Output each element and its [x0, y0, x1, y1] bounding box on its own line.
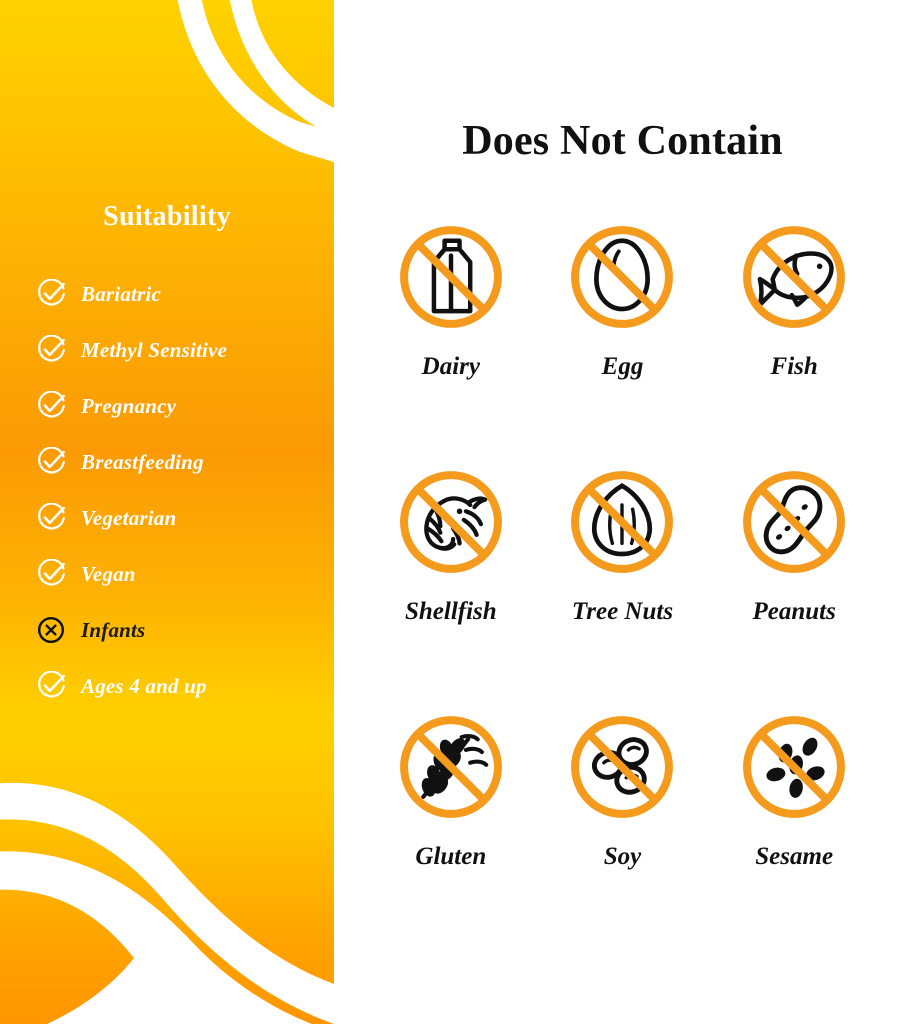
check-circle-icon [36, 447, 66, 477]
allergen-label: Fish [771, 353, 818, 381]
suitability-sidebar: Suitability Bariatric Methyl Sensitive [0, 0, 334, 1024]
allergen-item-peanuts[interactable]: Peanuts [708, 458, 880, 703]
suitability-list: Bariatric Methyl Sensitive Pregnancy [36, 266, 326, 714]
check-circle-icon [36, 335, 66, 365]
allergen-label: Gluten [415, 843, 486, 871]
milk-carton-icon [387, 213, 515, 341]
allergen-label: Soy [604, 843, 642, 871]
check-circle-icon [36, 279, 66, 309]
suitability-item-label: Bariatric [81, 282, 161, 307]
suitability-item-ages-4-and-up[interactable]: Ages 4 and up [36, 658, 326, 714]
allergen-label: Tree Nuts [572, 598, 673, 626]
fish-icon [730, 213, 858, 341]
sesame-seeds-icon [730, 703, 858, 831]
prohibition-ring [404, 720, 498, 814]
suitability-item-label: Ages 4 and up [81, 674, 207, 699]
prohibition-ring [404, 475, 498, 569]
allergen-label: Egg [602, 353, 644, 381]
suitability-heading: Suitability [0, 203, 334, 231]
egg-icon [558, 213, 686, 341]
check-circle-icon [36, 503, 66, 533]
allergen-grid: Dairy Egg [365, 213, 880, 948]
allergen-item-egg[interactable]: Egg [537, 213, 709, 458]
peanut-icon [730, 458, 858, 586]
suitability-item-label: Methyl Sensitive [81, 338, 227, 363]
suitability-item-label: Infants [81, 618, 145, 643]
suitability-item-vegetarian[interactable]: Vegetarian [36, 490, 326, 546]
suitability-item-vegan[interactable]: Vegan [36, 546, 326, 602]
allergen-item-tree-nuts[interactable]: Tree Nuts [537, 458, 709, 703]
allergen-item-shellfish[interactable]: Shellfish [365, 458, 537, 703]
suitability-item-breastfeeding[interactable]: Breastfeeding [36, 434, 326, 490]
suitability-item-label: Vegetarian [81, 506, 176, 531]
suitability-item-label: Breastfeeding [81, 450, 204, 475]
check-circle-icon [36, 671, 66, 701]
allergen-label: Sesame [755, 843, 833, 871]
allergen-item-sesame[interactable]: Sesame [708, 703, 880, 948]
allergen-item-dairy[interactable]: Dairy [365, 213, 537, 458]
allergen-suitability-panel: Suitability Bariatric Methyl Sensitive [0, 0, 911, 1024]
prohibition-ring [747, 230, 841, 324]
soybean-icon [558, 703, 686, 831]
prohibition-ring [576, 720, 670, 814]
allergen-label: Dairy [422, 353, 480, 381]
wheat-icon [387, 703, 515, 831]
suitability-item-label: Pregnancy [81, 394, 176, 419]
allergen-label: Peanuts [752, 598, 835, 626]
allergen-label: Shellfish [405, 598, 497, 626]
suitability-item-bariatric[interactable]: Bariatric [36, 266, 326, 322]
prohibition-ring [747, 720, 841, 814]
page-title: Does Not Contain [334, 120, 911, 162]
does-not-contain-panel: Does Not Contain Dairy [334, 0, 911, 1024]
sidebar-content: Suitability Bariatric Methyl Sensitive [0, 0, 334, 1024]
x-circle-icon [36, 615, 66, 645]
check-circle-icon [36, 559, 66, 589]
suitability-item-pregnancy[interactable]: Pregnancy [36, 378, 326, 434]
allergen-item-fish[interactable]: Fish [708, 213, 880, 458]
almond-icon [558, 458, 686, 586]
allergen-item-soy[interactable]: Soy [537, 703, 709, 948]
allergen-item-gluten[interactable]: Gluten [365, 703, 537, 948]
suitability-item-methyl-sensitive[interactable]: Methyl Sensitive [36, 322, 326, 378]
check-circle-icon [36, 391, 66, 421]
suitability-item-infants[interactable]: Infants [36, 602, 326, 658]
suitability-item-label: Vegan [81, 562, 136, 587]
shrimp-icon [387, 458, 515, 586]
